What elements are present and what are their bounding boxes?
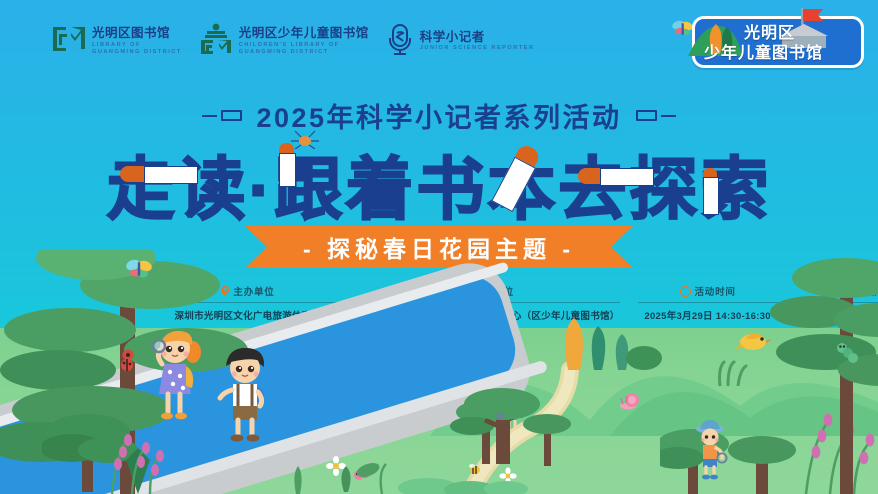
subtitle-row: 2025年科学小记者系列活动 (0, 96, 878, 135)
pink-flowering-bush-left (92, 416, 188, 494)
pencil-decoration-2 (279, 143, 294, 183)
logo-cn-text: 光明区少年儿童图书馆 (239, 27, 369, 40)
small-bug-icon (290, 129, 320, 149)
boy-with-backpack (216, 346, 274, 446)
pencil-decoration-1 (120, 166, 194, 182)
logo-junior-science-reporter: 科学小记者 JUNIOR SCIENCE REPORTER (386, 22, 535, 61)
logo-bar: 光明区图书馆 LIBRARY OF GUANGMING DISTRICT 光明区… (52, 22, 535, 61)
snail-icon (620, 390, 646, 410)
butterfly-icon-2 (124, 256, 154, 280)
library-badge: 光明区 少年儿童图书馆 (670, 4, 870, 70)
open-book-logo-icon (52, 24, 86, 59)
poster-canvas: 光明区图书馆 LIBRARY OF GUANGMING DISTRICT 光明区… (0, 0, 878, 494)
logo-cn-text: 光明区图书馆 (92, 27, 182, 40)
logo-en-line2: GUANGMING DISTRICT (92, 50, 182, 56)
headline-text: 走读·跟着书本去探索 (0, 134, 878, 233)
logo-en-line1: LIBRARY OF (92, 43, 182, 49)
pencil-decoration-4 (578, 168, 650, 184)
logo-en-line2: GUANGMING DISTRICT (239, 50, 369, 56)
park-scene-illustration (0, 250, 878, 494)
logo-en-line1: CHILDREN'S LIBRARY OF (239, 43, 369, 49)
badge-line2: 少年儿童图书馆 (704, 39, 823, 63)
logo-cn-text: 科学小记者 (420, 31, 535, 44)
flying-bird-icon (736, 328, 776, 354)
bottom-bushes (398, 464, 528, 494)
leaf-sprouts (278, 436, 408, 494)
grass-tuft (712, 356, 752, 386)
logo-en-line1: JUNIOR SCIENCE REPORTER (420, 46, 535, 52)
distant-big-tree (462, 384, 542, 464)
microphone-logo-icon (386, 22, 414, 61)
logo-library-of-guangming-district: 光明区图书馆 LIBRARY OF GUANGMING DISTRICT (52, 24, 182, 59)
subtitle-dash-right (636, 110, 676, 121)
logo-childrens-library-of-guangming-district: 光明区少年儿童图书馆 CHILDREN'S LIBRARY OF GUANGMI… (199, 23, 369, 60)
subtitle-dash-left (202, 110, 242, 121)
child-reading-logo-icon (199, 23, 233, 60)
shrub-cluster (548, 310, 668, 370)
ladybug-icon (120, 358, 134, 372)
pencil-decoration-5 (703, 168, 717, 212)
child-with-blue-hat (692, 418, 728, 480)
right-center-trees (660, 420, 800, 494)
caterpillar-icon (836, 342, 860, 364)
